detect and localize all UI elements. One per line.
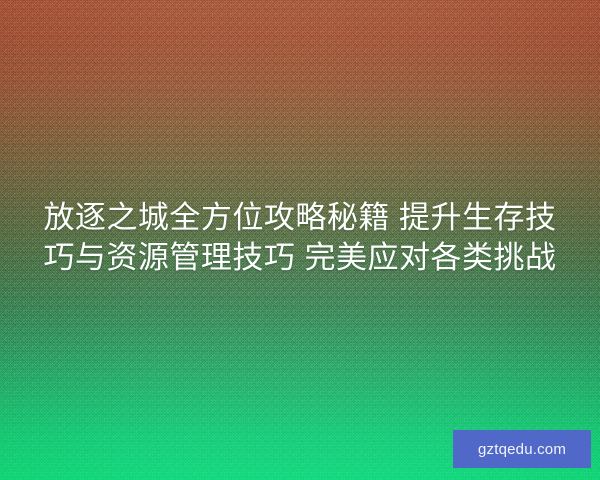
page-title: 放逐之城全方位攻略秘籍 提升生存技巧与资源管理技巧 完美应对各类挑战 [0, 198, 600, 278]
watermark-badge: gztqedu.com [453, 430, 591, 468]
watermark-label: gztqedu.com [478, 442, 566, 457]
banner-image: 放逐之城全方位攻略秘籍 提升生存技巧与资源管理技巧 完美应对各类挑战 gztqe… [0, 0, 600, 480]
